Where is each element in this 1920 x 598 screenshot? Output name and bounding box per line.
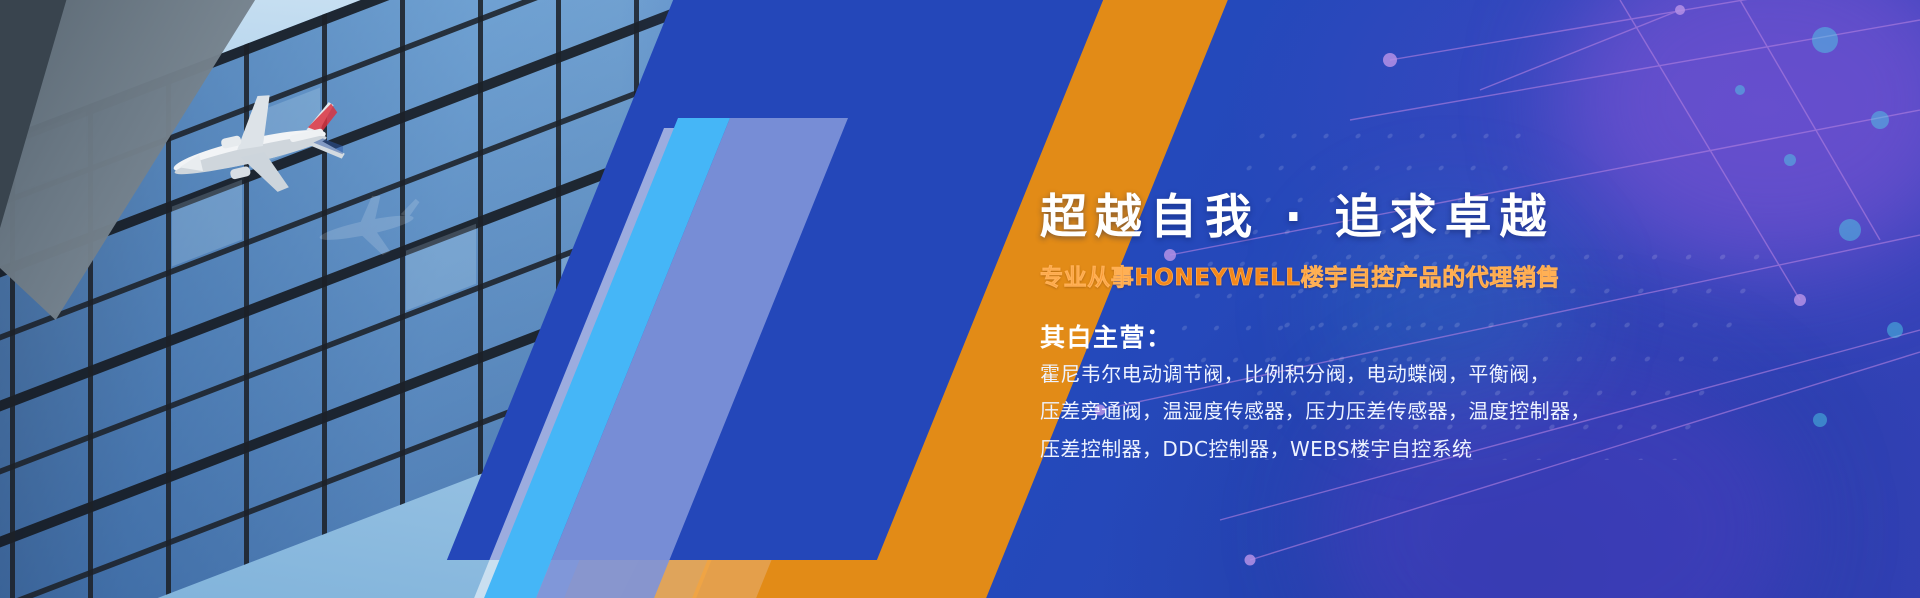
banner-text-block: 超越自我 · 追求卓越 专业从事HONEYWELL楼宇自控产品的代理销售 其白主… [1040, 0, 1800, 598]
banner-subtitle: 专业从事HONEYWELL楼宇自控产品的代理销售 [1040, 258, 1560, 292]
business-line: 压差旁通阀，温湿度传感器，压力压差传感器，温度控制器， [1040, 397, 1740, 425]
business-line: 霍尼韦尔电动调节阀，比例积分阀，电动蝶阀，平衡阀， [1040, 360, 1740, 388]
banner-subtitle-wrap: 专业从事HONEYWELL楼宇自控产品的代理销售 [1040, 258, 1560, 292]
hero-banner: 超越自我 · 追求卓越 专业从事HONEYWELL楼宇自控产品的代理销售 其白主… [0, 0, 1920, 598]
main-business-title: 其白主营： [1040, 318, 1173, 354]
main-business-list: 霍尼韦尔电动调节阀，比例积分阀，电动蝶阀，平衡阀， 压差旁通阀，温湿度传感器，压… [1040, 360, 1740, 472]
business-line: 压差控制器，DDC控制器，WEBS楼宇自控系统 [1040, 435, 1740, 463]
airplane-small-icon [300, 186, 430, 264]
banner-headline: 超越自我 · 追求卓越 [1040, 178, 1555, 247]
